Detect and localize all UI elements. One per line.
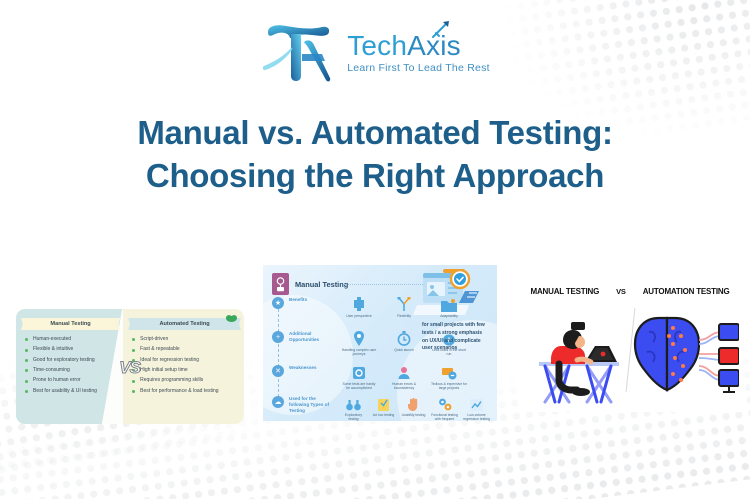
infographic-row-types: ☁ Used for the following Types of Testin… [272,396,497,421]
folder-icon [431,297,467,312]
brand-logo[interactable]: TechAxis Learn First To Lead The Rest [0,22,750,84]
info-item: Hotfix testing [495,396,497,421]
manual-testing-list: Human-executed Flexible & intuitive Good… [25,336,116,395]
clipboard-icon [371,396,396,411]
info-caption: Functional testing with frequent changes [431,413,458,421]
info-caption: Human errors & inconsistency [386,382,422,391]
manual-testing-heading: MANUAL TESTING [531,287,600,296]
page-title-line-1: Manual vs. Automated Testing: [137,114,612,151]
puzzle-icon [341,297,377,312]
stopwatch-icon [386,331,422,346]
info-item: Ad hoc testing [371,396,396,421]
gears-icon [431,396,458,411]
row-items: Some tests are hardly be accomplished Hu… [341,365,467,391]
vs-badge: VS [119,357,140,377]
person-magnifier-icon [272,273,289,295]
info-item: Some tests are hardly be accomplished [341,365,377,391]
automation-testing-heading: AUTOMATION TESTING [643,287,730,296]
page-title: Manual vs. Automated Testing: Choosing t… [0,112,750,198]
row-items: Exploratory testing Ad hoc testing Usabi… [341,396,497,421]
list-item: Good for exploratory testing [25,357,116,365]
info-item: Handling complex user journeys [341,331,377,357]
chart-icon [463,396,490,411]
info-caption: Quick launch [386,348,422,352]
info-item: Usability testing [401,396,426,421]
row-label: Benefits [289,297,333,303]
brand-tagline: Learn First To Lead The Rest [347,62,490,74]
cross-icon: ✕ [272,365,284,377]
bug-icon [495,396,497,411]
info-item: Functional testing with frequent changes [431,396,458,421]
info-caption: Ad hoc testing [371,413,396,417]
info-caption: Usability testing [401,413,426,417]
info-item: Tedious & expensive for large projects [431,365,467,391]
info-caption: User perspective [341,314,377,318]
illustration-headings: MANUAL TESTING VS AUTOMATION TESTING [519,287,741,296]
info-caption: Exploratory testing [341,413,366,421]
list-item: Best for usability & UI testing [25,388,116,396]
infographic-title: Manual Testing [295,280,348,289]
ta-monogram-icon [260,22,338,84]
info-caption: Tedious & expensive for large projects [431,382,467,391]
manual-vs-automation-illustration[interactable]: MANUAL TESTING VS AUTOMATION TESTING [519,278,741,412]
human-error-icon [386,365,422,380]
infographic-header: Manual Testing [272,273,348,295]
plus-icon: + [272,331,284,343]
list-item: Requires programming skills [132,377,237,385]
automated-testing-heading: Automated Testing [132,318,237,330]
infographic-row-weaknesses: ✕ Weaknesses Some tests are hardly be ac… [272,365,467,391]
info-item: Low-volume regression testing [463,396,490,421]
money-icon [431,365,467,380]
row-items: User perspective Flexibility Adaptabilit… [341,297,467,318]
manual-testing-pane: Manual Testing Human-executed Flexible &… [16,309,123,424]
infographic-row-benefits: ★ Benefits User perspective Flexibility [272,297,467,318]
automated-testing-list: Script-driven Fast & repeatable Ideal fo… [132,336,237,395]
list-item: Prone to human error [25,377,116,385]
list-item: Script-driven [132,336,237,344]
manual-testing-heading: Manual Testing [25,318,116,330]
brand-name: TechAxis [347,32,461,61]
thumbnail-row: Manual Testing Human-executed Flexible &… [0,255,750,435]
vs-label: VS [616,287,626,296]
info-caption: Low-volume regression testing [463,413,490,421]
page-title-line-2: Choosing the Right Approach [0,155,750,198]
developer-at-desk-icon [525,306,629,406]
row-label: Additional Opportunities [289,331,333,343]
info-item: Adaptability [431,297,467,318]
brand-wordmark: TechAxis Learn First To Lead The Rest [347,32,490,75]
info-caption: Some tests are hardly be accomplished [341,382,377,391]
list-item: Best for performance & load testing [132,388,237,396]
list-item: High initial setup time [132,367,237,375]
dart-arrow-icon [430,20,450,40]
info-item: Exploratory testing [341,396,366,421]
list-item: Time-consuming [25,367,116,375]
info-caption: Handling complex user journeys [341,348,377,357]
cloud-icon: ☁ [272,396,284,408]
list-item: Fast & repeatable [132,346,237,354]
brand-name-tech: Tech [347,30,407,61]
manual-vs-automated-comparison-card[interactable]: Manual Testing Human-executed Flexible &… [16,309,244,424]
list-item: Ideal for regression testing [132,357,237,365]
info-item: Quick launch [386,331,422,357]
list-item: Flexible & intuitive [25,346,116,354]
branch-icon [386,297,422,312]
row-label: Weaknesses [289,365,333,371]
pin-icon [341,331,377,346]
automated-testing-pane: Automated Testing Script-driven Fast & r… [123,309,244,424]
info-caption: Flexibility [386,314,422,318]
row-label: Used for the following Types of Testing [289,396,333,415]
hand-icon [401,396,426,411]
infographic-side-note: for small projects with few tests / a st… [422,322,488,353]
list-item: Human-executed [25,336,116,344]
manual-testing-blue-infographic[interactable]: Manual Testing ★ Benefits [263,265,497,421]
info-item: Flexibility [386,297,422,318]
gear-block-icon [341,365,377,380]
info-item: User perspective [341,297,377,318]
binoculars-icon [341,396,366,411]
star-icon: ★ [272,297,284,309]
info-caption: Hotfix testing [495,413,497,417]
info-item: Human errors & inconsistency [386,365,422,391]
green-leaf-icon [226,314,237,323]
info-caption: Adaptability [431,314,467,318]
brain-connected-monitors-icon [629,306,739,406]
